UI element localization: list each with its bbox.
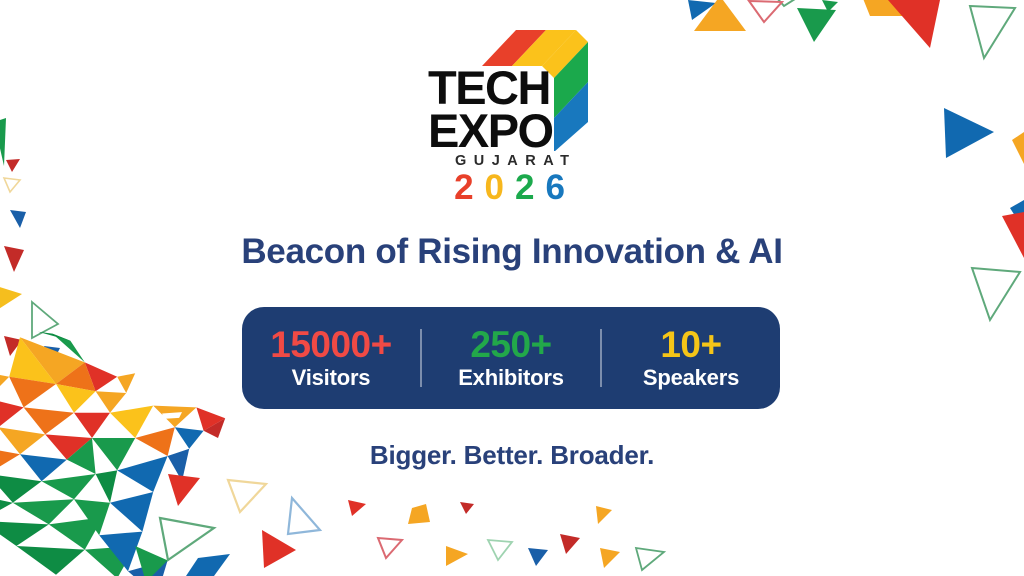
triangle-green-outline-lowright xyxy=(972,268,1020,320)
logo-line-expo: EXPO xyxy=(428,107,553,154)
triangle-cream-outline-bottom xyxy=(228,480,266,512)
stat-exhibitors-value: 250+ xyxy=(426,326,596,365)
triangle-red-outline-bottom xyxy=(378,538,402,558)
triangle-blue-left-lower xyxy=(44,346,60,364)
stat-speakers-label: Speakers xyxy=(606,365,776,390)
triangle-red-filled-bottom xyxy=(262,530,296,568)
triangle-blue-bottom xyxy=(186,554,230,576)
stat-speakers-value: 10+ xyxy=(606,326,776,365)
triangle-blue-tiny-bottom xyxy=(528,548,548,566)
triangle-green-small xyxy=(822,0,838,12)
stat-visitors-value: 15000+ xyxy=(246,326,416,365)
triangle-blue-small-left xyxy=(10,210,26,228)
triangle-red-left-lower xyxy=(4,336,22,356)
triangle-yellow-arrow-bottom xyxy=(446,546,468,566)
stat-visitors: 15000+ Visitors xyxy=(242,326,420,390)
triangle-yellow-wide xyxy=(862,0,910,16)
stat-visitors-label: Visitors xyxy=(246,365,416,390)
triangle-yellow-bottom-right xyxy=(596,506,612,524)
triangle-red-small-bottom xyxy=(348,500,366,516)
triangle-green-outline-bottom-right xyxy=(636,548,664,570)
stat-exhibitors: 250+ Exhibitors xyxy=(422,326,600,390)
triangle-yellow-left xyxy=(0,284,22,312)
triangle-green-outline-bottom xyxy=(160,518,214,560)
subline-text: Bigger. Better. Broader. xyxy=(0,440,1024,471)
headline-text: Beacon of Rising Innovation & AI xyxy=(0,232,1024,272)
stat-speakers: 10+ Speakers xyxy=(602,326,780,390)
logo-year-digit-3: 2 xyxy=(512,170,542,205)
triangle-red-outline xyxy=(749,1,782,22)
triangle-yellow-bottom-right2 xyxy=(600,548,620,568)
logo-mark: TECH EXPO xyxy=(424,26,600,151)
triangle-blue-outline-bottom xyxy=(288,498,320,534)
triangle-red-bottom-2 xyxy=(560,534,580,554)
triangle-green-outline-left xyxy=(32,302,58,338)
triangle-blue-filled xyxy=(688,0,716,20)
logo-year-digit-1: 2 xyxy=(451,170,481,205)
triangle-yellow-bottom xyxy=(408,504,430,524)
logo-year-digit-4: 6 xyxy=(542,170,572,205)
logo-year-text: 2 0 2 6 xyxy=(451,170,573,205)
stat-exhibitors-label: Exhibitors xyxy=(426,365,596,390)
triangle-green-outline-small-bottom xyxy=(488,540,512,560)
triangle-green-outline xyxy=(770,0,806,6)
logo-year-digit-2: 0 xyxy=(482,170,512,205)
stats-bar: 15000+ Visitors 250+ Exhibitors 10+ Spea… xyxy=(242,307,780,409)
logo-wordmark: TECH EXPO xyxy=(424,26,600,151)
triangle-red-tiny-bottom xyxy=(460,502,474,514)
poster-canvas: TECH EXPO GUJARAT 2 0 2 6 Beacon of Risi… xyxy=(0,0,1024,576)
triangle-red-bottom-1 xyxy=(168,474,200,506)
event-logo: TECH EXPO GUJARAT 2 0 2 6 xyxy=(0,26,1024,205)
